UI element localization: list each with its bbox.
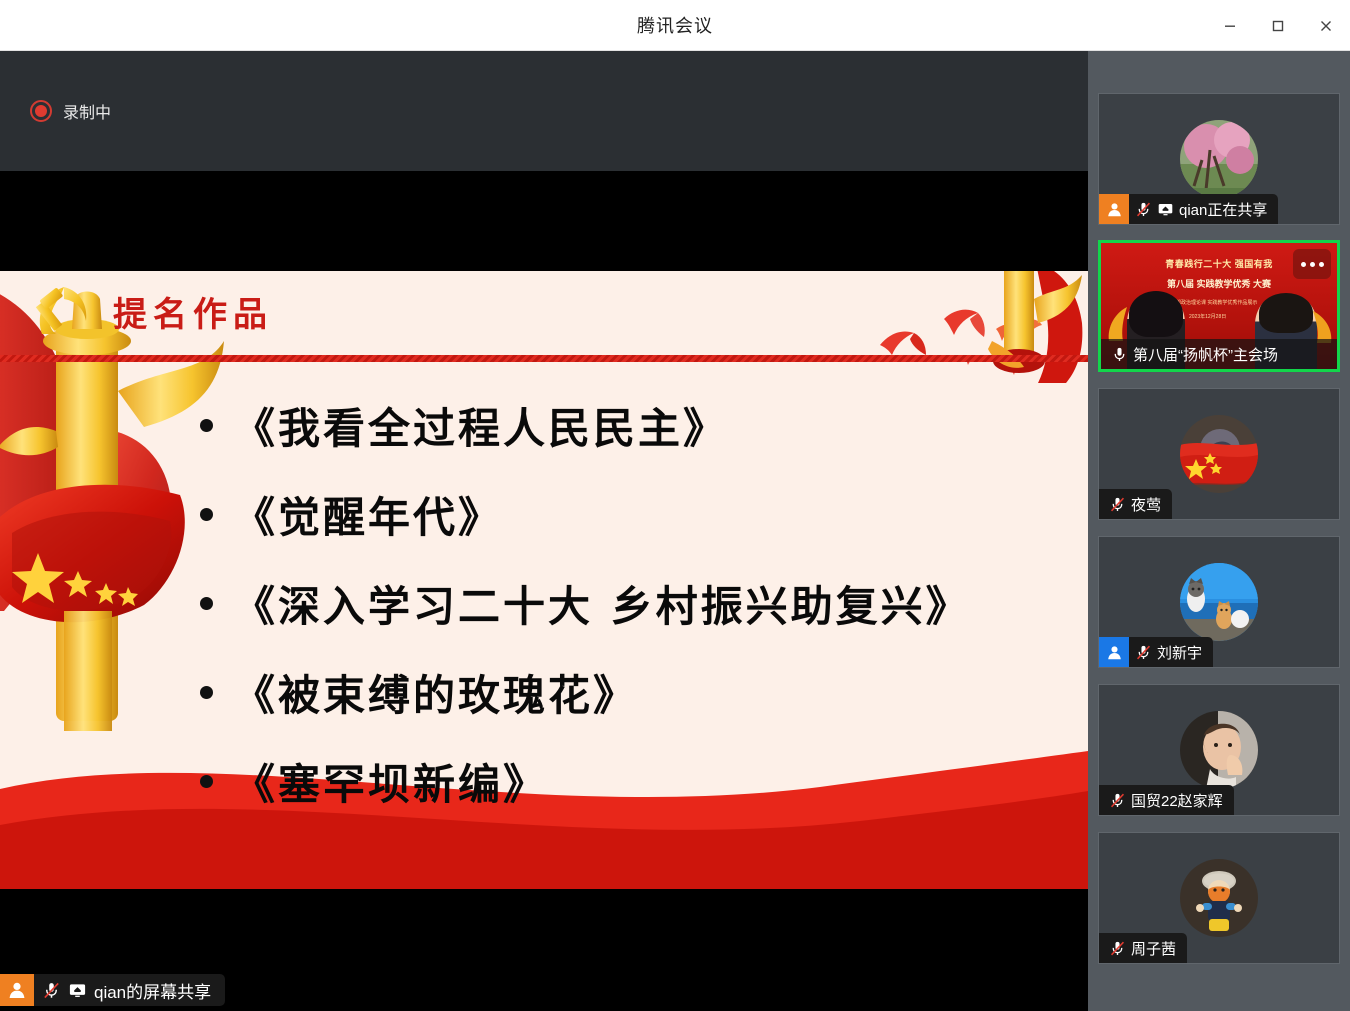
participant-tile-yeying[interactable]: 夜莺	[1098, 388, 1340, 520]
presentation-slide: 提名作品	[0, 271, 1088, 889]
close-button[interactable]	[1302, 0, 1350, 51]
bullet-text: 《被束缚的玫瑰花》	[233, 662, 638, 723]
bullet-dot-icon	[200, 597, 213, 610]
china-flag-avatar	[1180, 415, 1258, 493]
participant-name: 夜莺	[1131, 494, 1161, 515]
participant-tile-qian[interactable]: qian正在共享	[1098, 93, 1340, 225]
bullet-text: 《我看全过程人民民主》	[233, 395, 728, 456]
bullet-text: 《深入学习二十大 乡村振兴助复兴》	[233, 573, 971, 634]
window-title: 腾讯会议	[637, 12, 713, 38]
minimize-icon	[1222, 18, 1238, 34]
participant-tile-zhouziqian[interactable]: 周子茜	[1098, 832, 1340, 964]
bullet-dot-icon	[200, 508, 213, 521]
minimize-button[interactable]	[1206, 0, 1254, 51]
bullet-dot-icon	[200, 775, 213, 788]
screen-share-label-text: qian的屏幕共享	[94, 978, 211, 1003]
maximize-icon	[1270, 18, 1286, 34]
bullet-text: 《塞罕坝新编》	[233, 751, 548, 812]
close-icon	[1318, 18, 1334, 34]
shared-screen-stage[interactable]: 录制中	[0, 51, 1088, 1011]
list-item: 《我看全过程人民民主》	[200, 381, 1080, 470]
mic-muted-icon	[42, 981, 61, 1000]
tile-label: 夜莺	[1099, 489, 1172, 519]
mic-on-icon	[1111, 346, 1128, 363]
cats-beach-avatar	[1180, 563, 1258, 641]
screen-share-icon	[68, 981, 87, 1000]
venue-banner-line4: 2023年12月28日	[1189, 313, 1226, 320]
participant-tile-liuxinyu[interactable]: 刘新宇	[1098, 536, 1340, 668]
venue-banner-line3: 思想政治理论课 实践教学优秀作品展示	[1171, 299, 1257, 306]
bullet-dot-icon	[200, 686, 213, 699]
cherry-blossom-avatar	[1180, 120, 1258, 198]
list-item: 《被束缚的玫瑰花》	[200, 648, 1080, 737]
title-bar: 腾讯会议	[0, 0, 1350, 51]
recording-label: 录制中	[63, 99, 111, 123]
mic-muted-icon	[1109, 940, 1126, 957]
mic-muted-icon	[1135, 644, 1152, 661]
tile-label: 国贸22赵家辉	[1099, 785, 1234, 815]
more-options-icon[interactable]	[1293, 249, 1331, 279]
participant-name: 国贸22赵家辉	[1131, 790, 1223, 811]
record-dot-icon	[30, 100, 52, 122]
knitted-doll-avatar	[1180, 859, 1258, 937]
participant-sidebar[interactable]: qian正在共享 青春践行二十大 强国有我 第八届 实践教学优秀 大赛 思想政治…	[1088, 51, 1350, 1011]
slide-bullet-list: 《我看全过程人民民主》 《觉醒年代》 《深入学习二十大 乡村振兴助复兴》 《被束…	[200, 381, 1080, 826]
bullet-text: 《觉醒年代》	[233, 484, 503, 545]
screen-share-icon	[1157, 201, 1174, 218]
list-item: 《觉醒年代》	[200, 470, 1080, 559]
mic-muted-icon	[1109, 792, 1126, 809]
right-pillar-graphic	[978, 271, 1088, 383]
tile-label: 刘新宇	[1099, 637, 1213, 667]
slide-title: 提名作品	[113, 287, 273, 336]
participant-tile-zhaojiahui[interactable]: 国贸22赵家辉	[1098, 684, 1340, 816]
participant-name: 周子茜	[1131, 938, 1176, 959]
participant-name: qian正在共享	[1179, 199, 1267, 220]
tile-label: qian正在共享	[1099, 194, 1278, 224]
list-item: 《深入学习二十大 乡村振兴助复兴》	[200, 559, 1080, 648]
tencent-meeting-window: 腾讯会议 录制中	[0, 0, 1350, 1011]
slide-divider	[0, 355, 1088, 362]
letterbox-top	[0, 171, 1088, 271]
tile-label: 周子茜	[1099, 933, 1187, 963]
host-badge	[0, 974, 34, 1006]
participant-tile-main-venue[interactable]: 青春践行二十大 强国有我 第八届 实践教学优秀 大赛 思想政治理论课 实践教学优…	[1098, 240, 1340, 372]
cohost-person-icon	[1099, 637, 1129, 667]
bullet-dot-icon	[200, 419, 213, 432]
screen-share-label: qian的屏幕共享	[0, 974, 225, 1006]
participant-name: 第八届“扬帆杯”主会场	[1133, 344, 1278, 365]
host-person-icon	[7, 980, 27, 1000]
maximize-button[interactable]	[1254, 0, 1302, 51]
recording-bar: 录制中	[0, 51, 1088, 171]
list-item: 《塞罕坝新编》	[200, 737, 1080, 826]
host-person-icon	[1099, 194, 1129, 224]
participant-name: 刘新宇	[1157, 642, 1202, 663]
tile-label: 第八届“扬帆杯”主会场	[1101, 339, 1337, 369]
mic-muted-icon	[1109, 496, 1126, 513]
hammer-sickle-icon	[30, 279, 98, 341]
mic-muted-icon	[1135, 201, 1152, 218]
recording-indicator[interactable]: 录制中	[30, 99, 111, 123]
portrait-avatar	[1180, 711, 1258, 789]
window-controls	[1206, 0, 1350, 51]
